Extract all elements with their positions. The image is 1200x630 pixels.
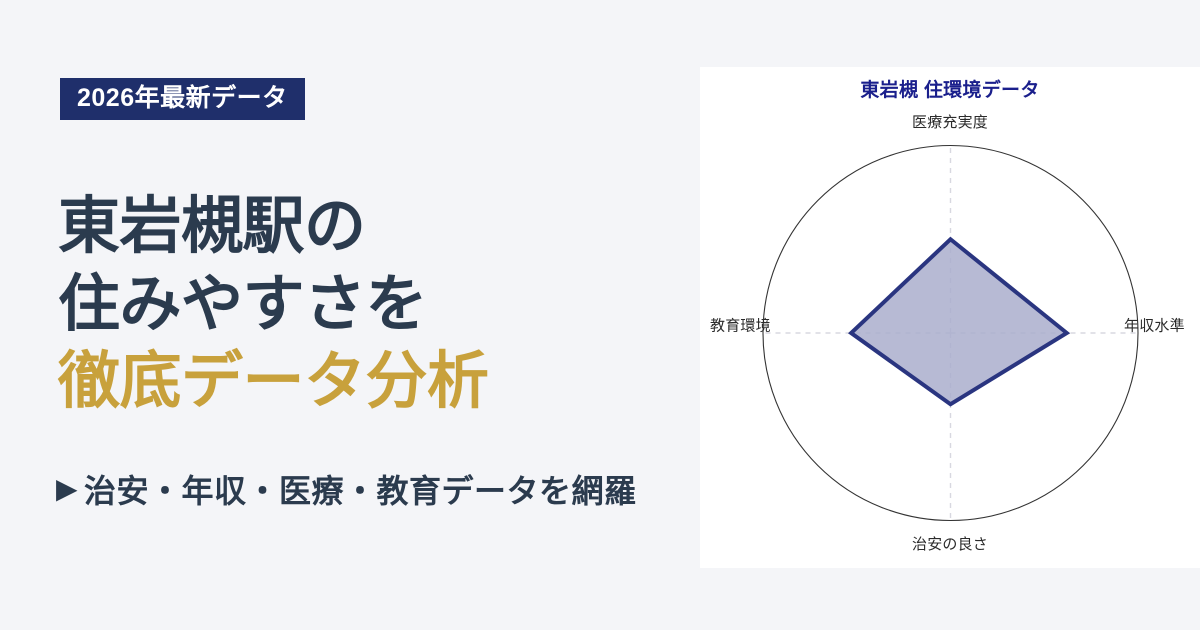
radar-series-polygon-0 bbox=[851, 239, 1067, 404]
poster-canvas: 2026年最新データ 東岩槻駅の 住みやすさを 徹底データ分析 ▶ 治安・年収・… bbox=[0, 0, 1200, 630]
axis-label-education: 教育環境 bbox=[710, 315, 771, 336]
axis-label-medical: 医療充実度 bbox=[912, 111, 988, 132]
headline-line-3-accent: 徹底データ分析 bbox=[58, 343, 698, 421]
subtitle-text: 治安・年収・医療・教育データを網羅 bbox=[84, 466, 637, 512]
play-triangle-icon: ▶ bbox=[56, 475, 78, 503]
chart-card: 東岩槻 住環境データ 医療充実度 年収水準 治安の良さ 教育環境 bbox=[700, 67, 1200, 568]
headline-line-2: 住みやすさを bbox=[58, 266, 698, 344]
axis-label-safety: 治安の良さ bbox=[912, 533, 988, 554]
page-title: 東岩槻駅の 住みやすさを 徹底データ分析 bbox=[58, 188, 698, 421]
radar-chart: 医療充実度 年収水準 治安の良さ 教育環境 bbox=[700, 67, 1200, 568]
axis-label-income: 年収水準 bbox=[1124, 315, 1185, 336]
date-badge: 2026年最新データ bbox=[60, 78, 305, 120]
radar-series-group bbox=[851, 239, 1067, 404]
headline-line-1: 東岩槻駅の bbox=[58, 188, 698, 266]
subtitle: ▶ 治安・年収・医療・教育データを網羅 bbox=[56, 466, 637, 512]
left-content-panel: 2026年最新データ 東岩槻駅の 住みやすさを 徹底データ分析 ▶ 治安・年収・… bbox=[0, 0, 700, 630]
